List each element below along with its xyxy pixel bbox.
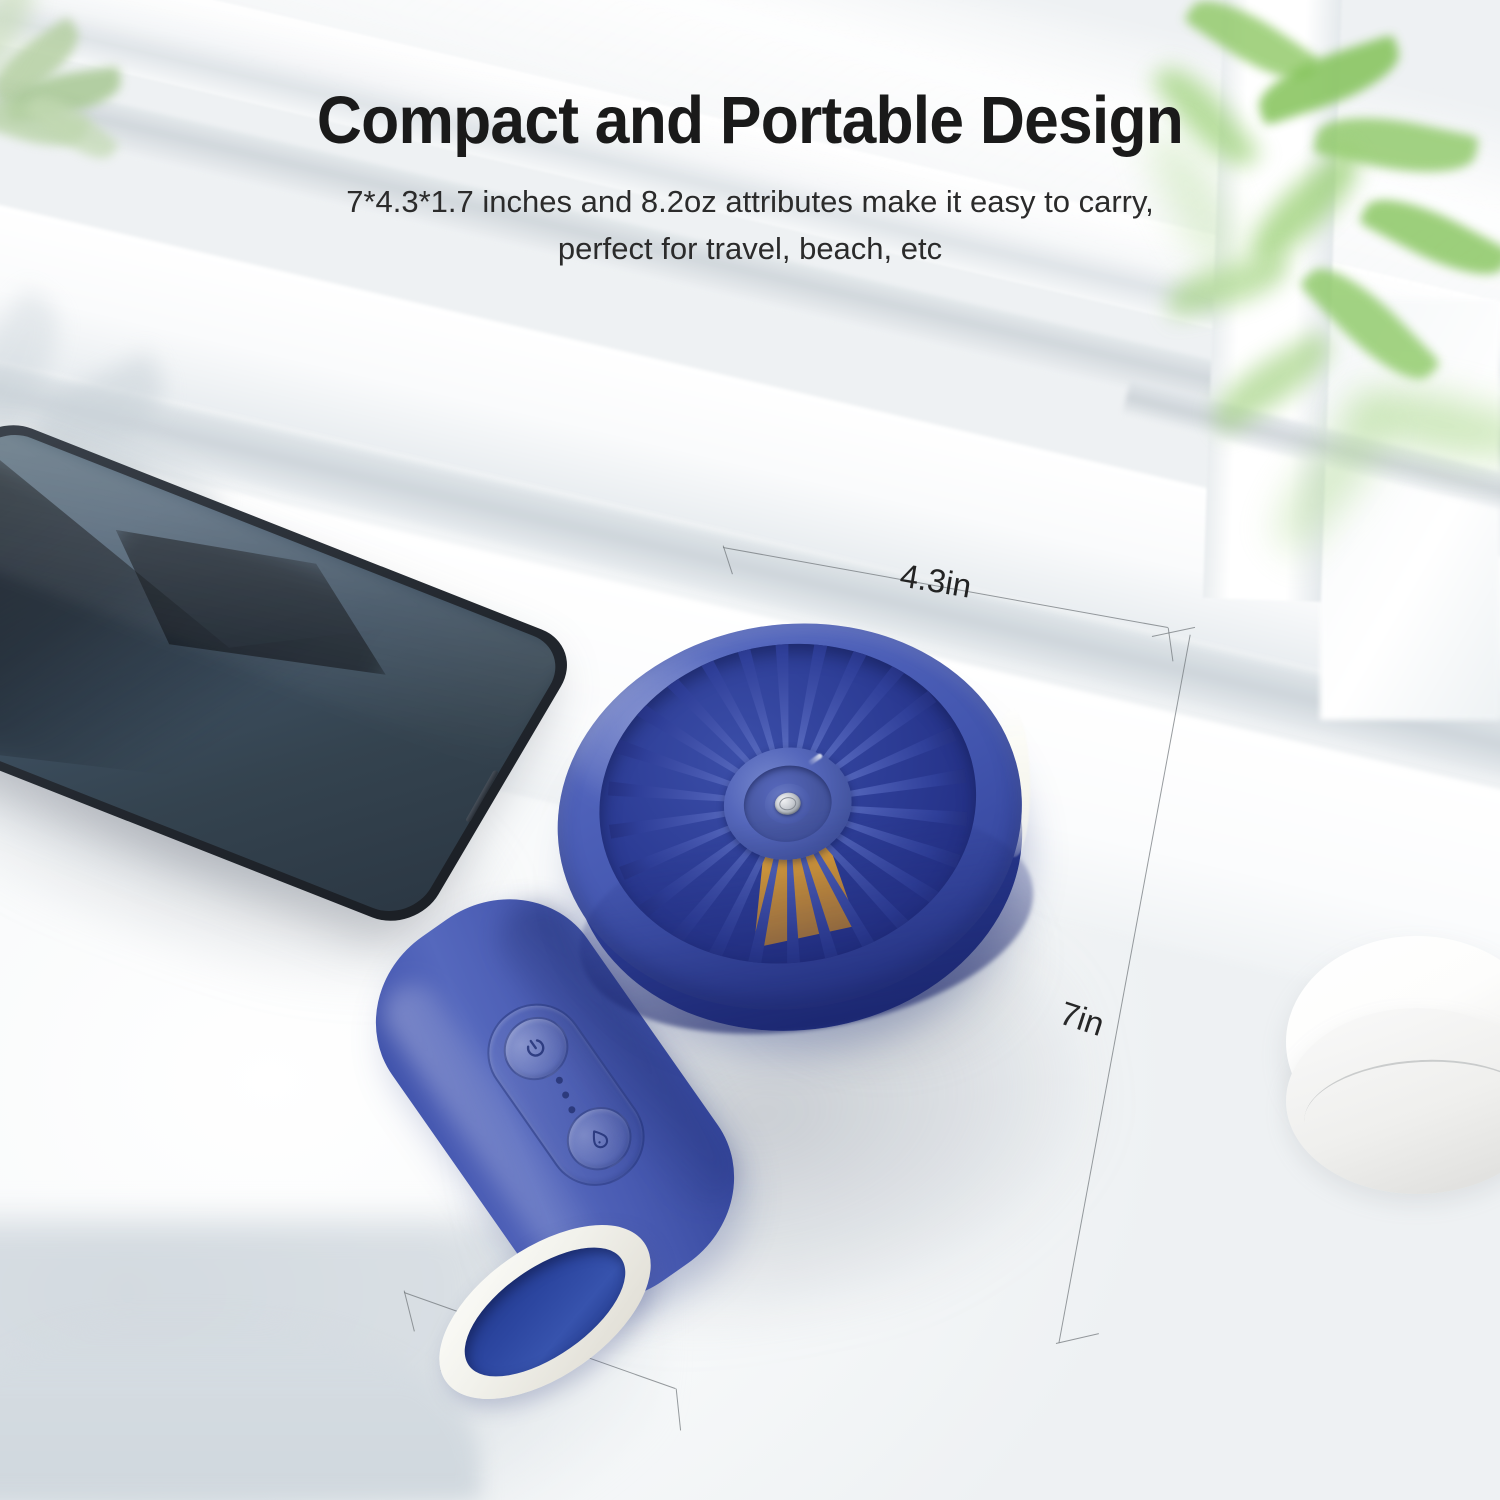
headline: Compact and Portable Design xyxy=(53,82,1448,159)
indicator-dot xyxy=(561,1090,570,1099)
handheld-fan-product xyxy=(418,600,1118,1360)
subheadline: 7*4.3*1.7 inches and 8.2oz attributes ma… xyxy=(250,178,1250,272)
indicator-dot xyxy=(567,1105,576,1114)
power-icon xyxy=(518,1030,554,1066)
battery-indicator-dots xyxy=(555,1076,577,1115)
subheadline-line-1: 7*4.3*1.7 inches and 8.2oz attributes ma… xyxy=(250,178,1250,225)
hub-screw-slot xyxy=(778,796,797,811)
fan-head xyxy=(528,580,1060,1069)
power-button[interactable] xyxy=(491,1004,581,1093)
product-feature-image: Compact and Portable Design 7*4.3*1.7 in… xyxy=(0,0,1500,1500)
indicator-dot xyxy=(555,1076,564,1085)
subheadline-line-2: perfect for travel, beach, etc xyxy=(250,225,1250,272)
fan-grille xyxy=(576,617,999,990)
hub-specular-highlight xyxy=(807,753,823,766)
water-drop-icon xyxy=(582,1122,615,1155)
